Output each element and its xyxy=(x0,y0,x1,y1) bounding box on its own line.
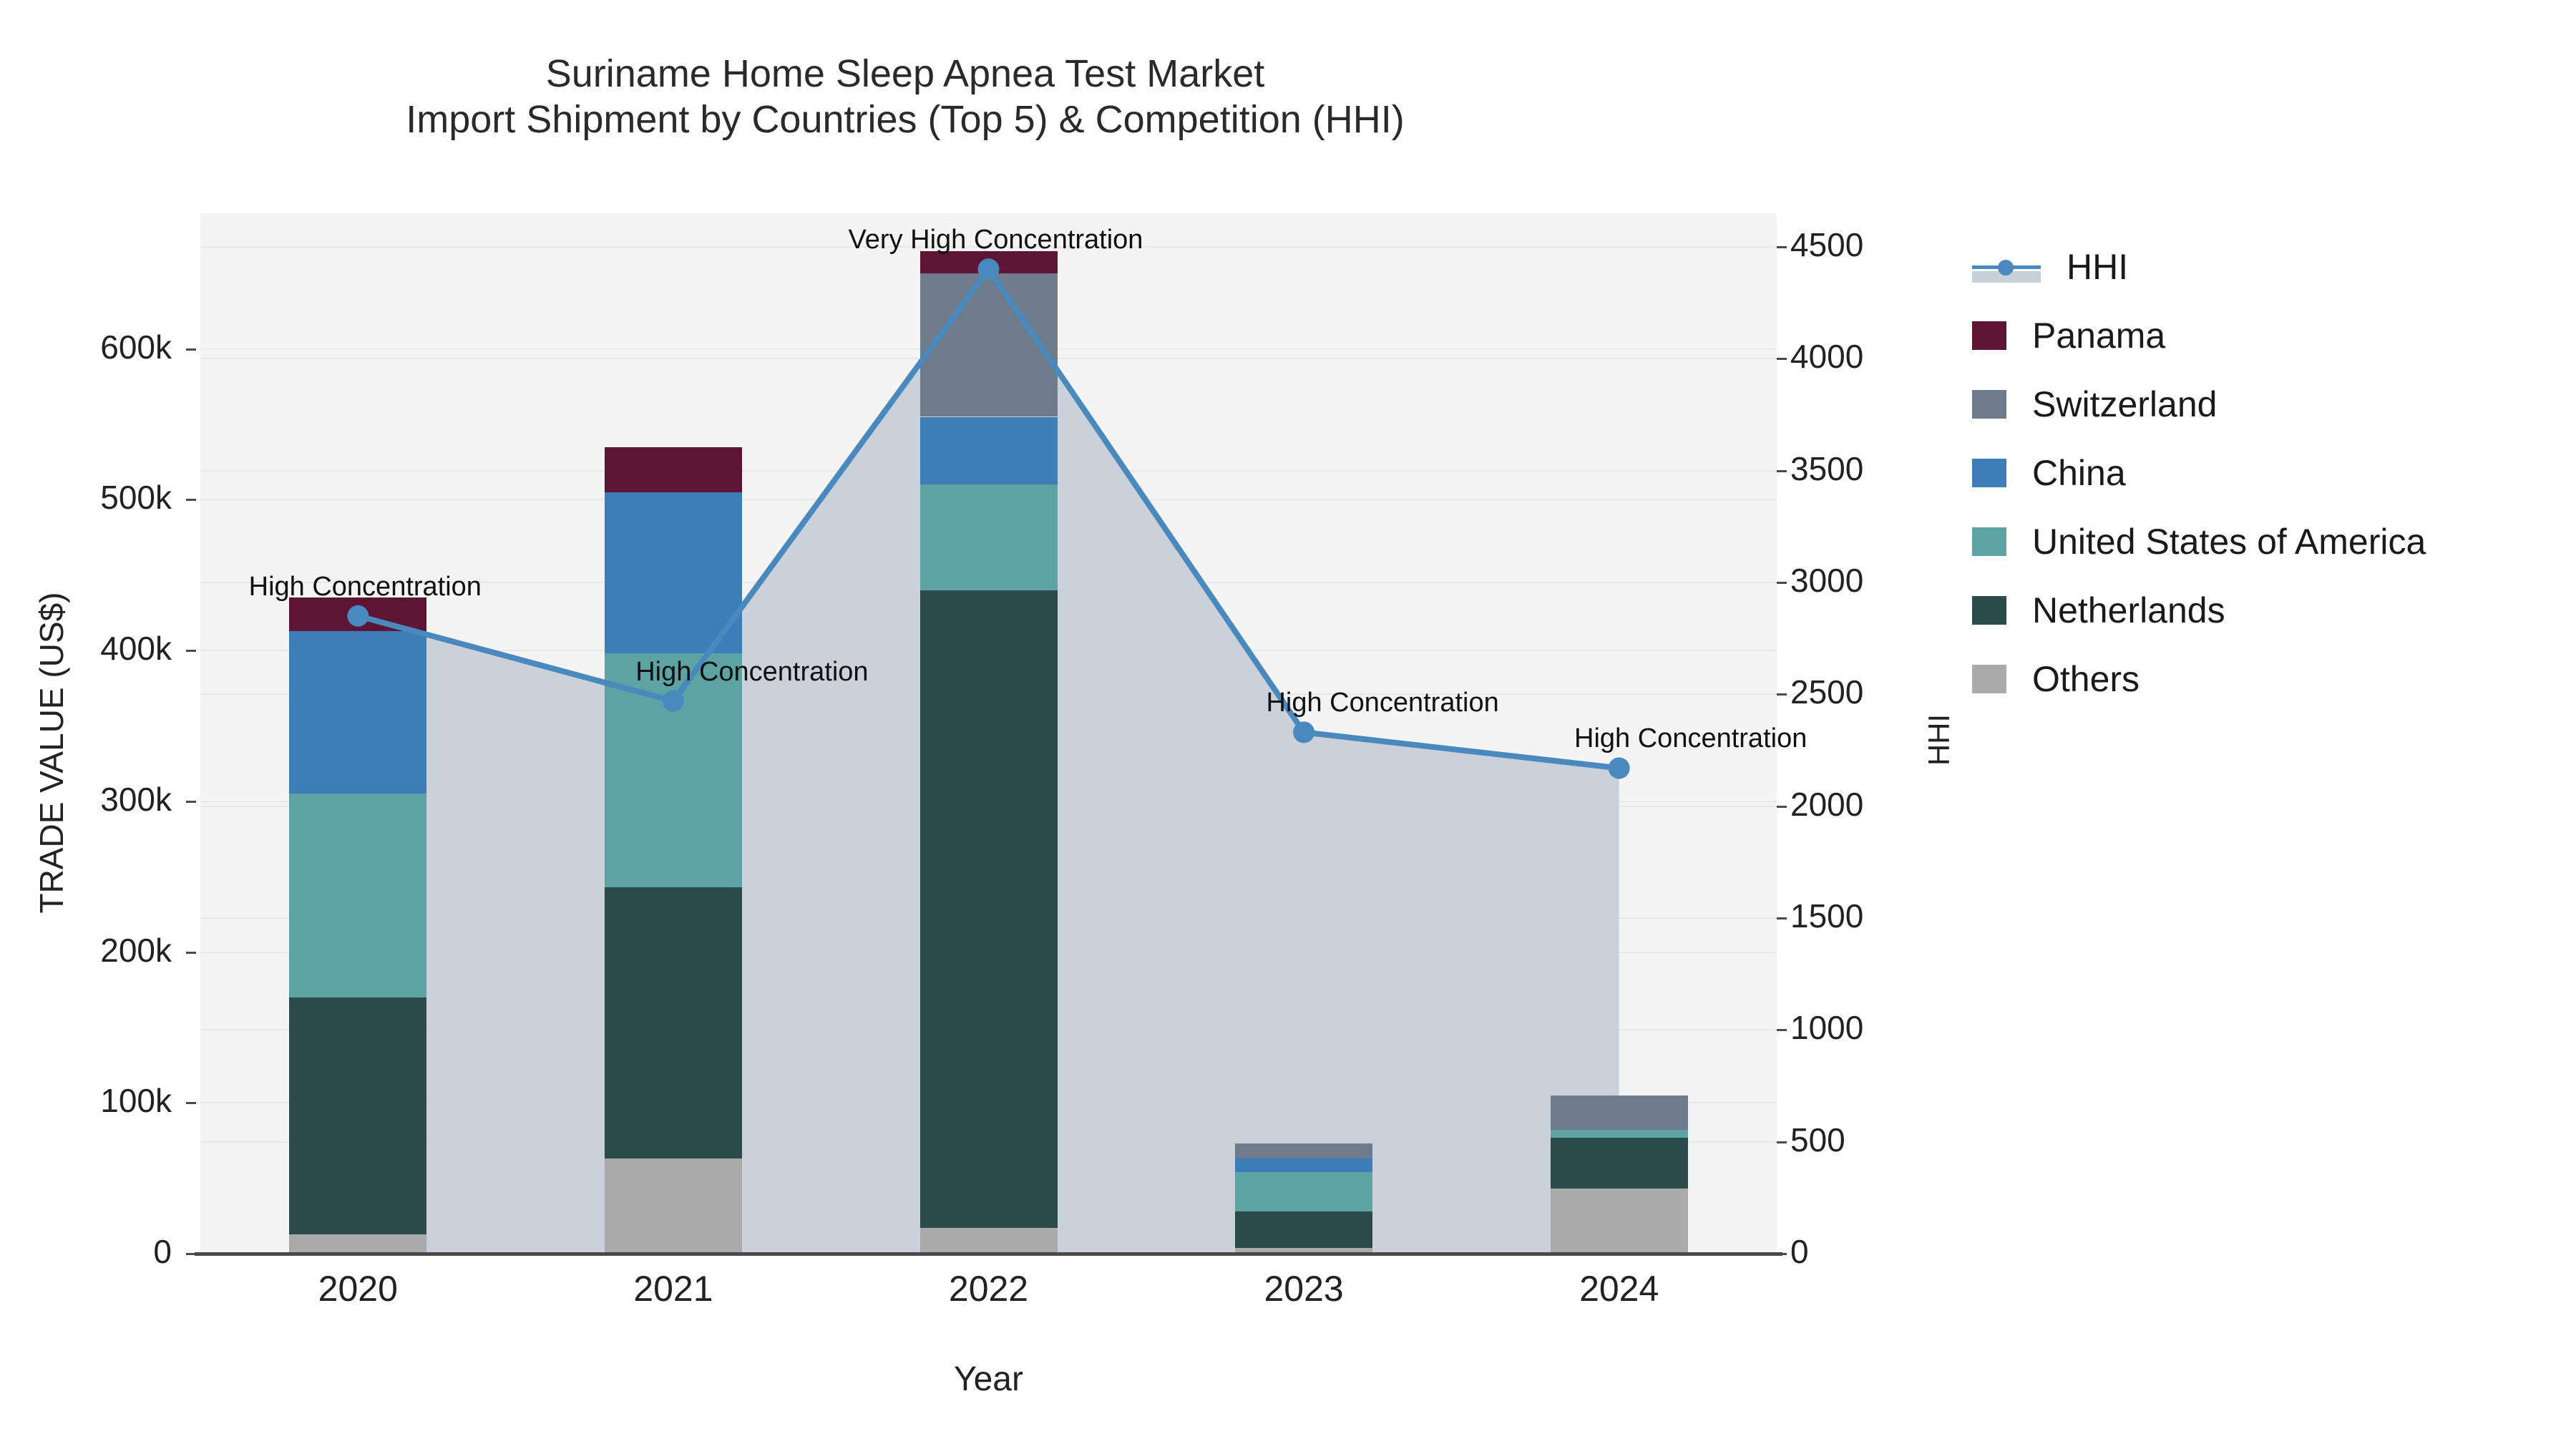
page-title: Suriname Home Sleep Apnea Test Market Im… xyxy=(0,52,1810,142)
chart-title-line1: Suriname Home Sleep Apnea Test Market xyxy=(546,52,1265,95)
legend-swatch-icon xyxy=(1972,390,2006,419)
y2-tick-mark xyxy=(1777,1253,1787,1255)
y-tick-mark xyxy=(186,650,196,652)
legend-item-others[interactable]: Others xyxy=(1972,645,2426,713)
y-tick-mark xyxy=(186,348,196,351)
y-tick-mark xyxy=(186,1102,196,1104)
y2-tick-label: 0 xyxy=(1790,1232,1809,1271)
y2-axis-title: HHI xyxy=(1922,633,1956,847)
legend-item-china[interactable]: China xyxy=(1972,439,2426,507)
bar-segment[interactable] xyxy=(289,794,426,997)
legend-swatch-icon xyxy=(1972,321,2006,350)
x-tick-label-2021: 2021 xyxy=(633,1268,713,1309)
plot-area xyxy=(200,213,1777,1254)
y2-tick-label: 500 xyxy=(1790,1121,1845,1159)
x-tick-label-2020: 2020 xyxy=(318,1268,398,1309)
y2-tick-label: 3000 xyxy=(1790,561,1863,600)
y2-tick-mark xyxy=(1777,1029,1787,1031)
y2-tick-mark xyxy=(1777,358,1787,360)
y2-tick-label: 2500 xyxy=(1790,673,1863,711)
legend-item-label: United States of America xyxy=(2032,524,2426,560)
legend-item-hhi[interactable]: HHI xyxy=(1972,233,2426,301)
y-tick-mark xyxy=(186,952,196,954)
y2-tick-mark xyxy=(1777,582,1787,584)
bar-segment[interactable] xyxy=(1551,1189,1688,1254)
concentration-annotation-2020: High Concentration xyxy=(249,572,482,602)
legend-item-label: Panama xyxy=(2032,318,2165,353)
y2-tick-mark xyxy=(1777,806,1787,808)
y-tick-mark xyxy=(186,1253,196,1255)
bar-segment[interactable] xyxy=(1235,1172,1372,1211)
legend-line-icon xyxy=(1972,253,2041,281)
x-axis-line xyxy=(195,1252,1782,1256)
y2-tick-label: 4500 xyxy=(1790,225,1863,264)
legend-swatch-icon xyxy=(1972,596,2006,625)
bar-segment[interactable] xyxy=(605,1158,742,1254)
x-tick-label-2022: 2022 xyxy=(949,1268,1028,1309)
y-tick-label: 0 xyxy=(29,1232,172,1271)
y-tick-label: 300k xyxy=(29,780,172,819)
y-tick-mark xyxy=(186,499,196,501)
y-tick-label: 400k xyxy=(29,629,172,668)
bar-segment[interactable] xyxy=(289,631,426,794)
y2-tick-mark xyxy=(1777,470,1787,472)
y2-tick-mark xyxy=(1777,1141,1787,1143)
y-tick-label: 100k xyxy=(29,1081,172,1120)
concentration-annotation-2021: High Concentration xyxy=(635,657,868,688)
y2-tick-mark xyxy=(1777,917,1787,919)
y-tick-label: 500k xyxy=(29,478,172,517)
bar-segment[interactable] xyxy=(1235,1211,1372,1248)
bar-group-2022[interactable] xyxy=(920,213,1058,1254)
bar-segment[interactable] xyxy=(605,492,742,653)
legend-item-label: Switzerland xyxy=(2032,386,2217,422)
bar-group-2023[interactable] xyxy=(1235,213,1372,1254)
y2-tick-label: 3500 xyxy=(1790,449,1863,488)
legend-item-panama[interactable]: Panama xyxy=(1972,301,2426,370)
bar-group-2021[interactable] xyxy=(605,213,742,1254)
bar-segment[interactable] xyxy=(1235,1158,1372,1172)
legend-item-label: Others xyxy=(2032,661,2140,697)
y-axis-title: TRADE VALUE (US$) xyxy=(32,538,71,967)
legend-item-netherlands[interactable]: Netherlands xyxy=(1972,576,2426,645)
y-tick-mark xyxy=(186,801,196,803)
legend-line-dot xyxy=(1998,260,2014,275)
bar-segment[interactable] xyxy=(605,887,742,1158)
legend-item-label: Netherlands xyxy=(2032,592,2225,628)
chart-title-line2: Import Shipment by Countries (Top 5) & C… xyxy=(0,97,1810,143)
y2-tick-label: 1500 xyxy=(1790,897,1863,935)
bar-segment[interactable] xyxy=(920,590,1058,1228)
bars-layer xyxy=(200,213,1777,1254)
y2-tick-label: 2000 xyxy=(1790,785,1863,824)
legend-swatch-icon xyxy=(1972,665,2006,693)
legend: HHIPanamaSwitzerlandChinaUnited States o… xyxy=(1972,233,2426,713)
y-tick-label: 600k xyxy=(29,328,172,366)
y-tick-label: 200k xyxy=(29,931,172,970)
legend-swatch-icon xyxy=(1972,459,2006,487)
bar-group-2020[interactable] xyxy=(289,213,426,1254)
bar-segment[interactable] xyxy=(1551,1138,1688,1189)
y2-tick-mark xyxy=(1777,246,1787,248)
legend-swatch-icon xyxy=(1972,527,2006,556)
legend-item-label: HHI xyxy=(2067,249,2128,285)
bar-segment[interactable] xyxy=(1551,1130,1688,1138)
y2-tick-mark xyxy=(1777,693,1787,696)
x-tick-label-2024: 2024 xyxy=(1579,1268,1659,1309)
legend-item-switzerland[interactable]: Switzerland xyxy=(1972,370,2426,439)
concentration-annotation-2024: High Concentration xyxy=(1574,723,1807,754)
bar-segment[interactable] xyxy=(289,597,426,630)
legend-item-united-states-of-america[interactable]: United States of America xyxy=(1972,507,2426,576)
bar-segment[interactable] xyxy=(289,997,426,1234)
bar-segment[interactable] xyxy=(605,447,742,492)
concentration-annotation-2022: Very High Concentration xyxy=(849,225,1143,255)
bar-segment[interactable] xyxy=(920,417,1058,485)
bar-segment[interactable] xyxy=(920,1228,1058,1254)
concentration-annotation-2023: High Concentration xyxy=(1266,688,1498,718)
bar-segment[interactable] xyxy=(920,273,1058,416)
bar-segment[interactable] xyxy=(920,484,1058,590)
y2-tick-label: 1000 xyxy=(1790,1008,1863,1047)
x-tick-label-2023: 2023 xyxy=(1264,1268,1343,1309)
bar-segment[interactable] xyxy=(1551,1096,1688,1130)
bar-segment[interactable] xyxy=(605,653,742,887)
y2-tick-label: 4000 xyxy=(1790,337,1863,376)
legend-item-label: China xyxy=(2032,455,2126,491)
bar-segment[interactable] xyxy=(1235,1143,1372,1158)
x-axis-title: Year xyxy=(200,1360,1777,1399)
bar-segment[interactable] xyxy=(289,1234,426,1254)
